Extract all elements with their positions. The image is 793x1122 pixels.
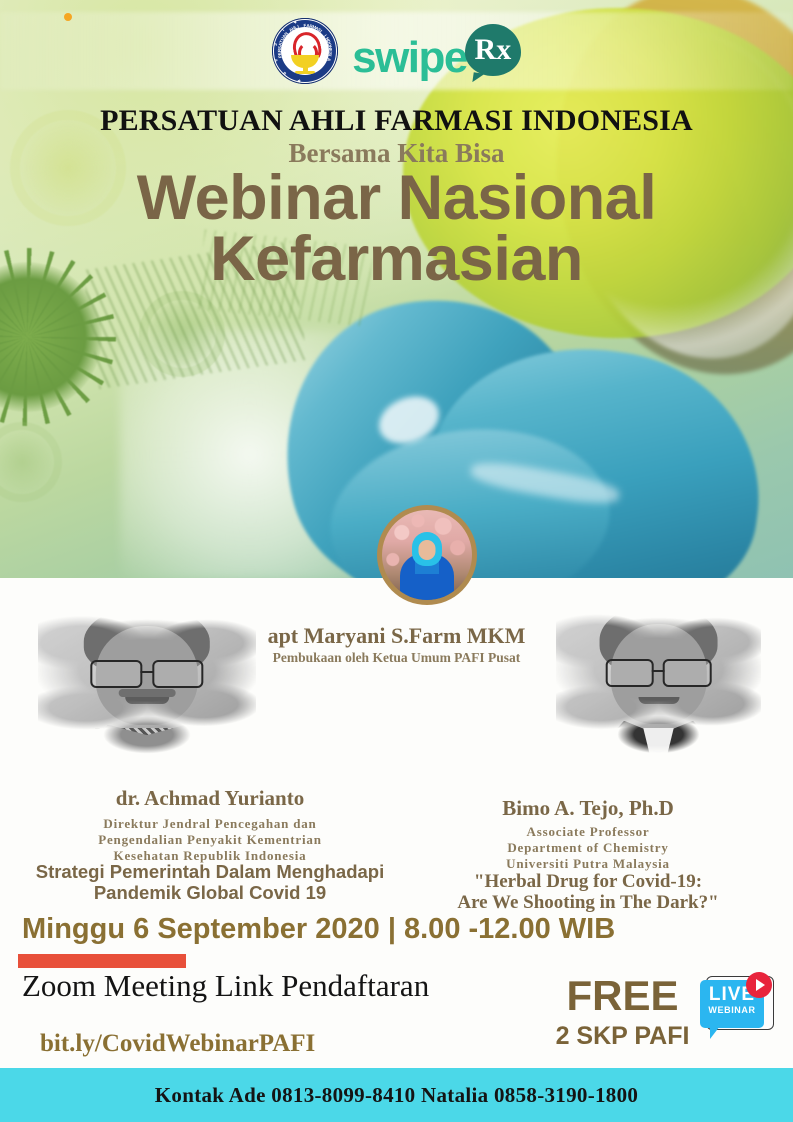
speaker-left-topic-1: Strategi Pemerintah Dalam Menghadapi bbox=[0, 862, 420, 882]
brush-mask bbox=[556, 590, 761, 762]
seal-lettering: PERSATUAN AHLI FARMASI INDONESIA★ P A F … bbox=[272, 18, 338, 84]
badge-webinar-label: WEBINAR bbox=[700, 1005, 764, 1015]
mouth bbox=[125, 697, 169, 704]
swipe-dot-icon bbox=[64, 13, 72, 21]
credits-skp: 2 SKP PAFI bbox=[540, 1022, 705, 1051]
event-datetime: Minggu 6 September 2020 | 8.00 -12.00 WI… bbox=[22, 913, 615, 946]
speaker-left-name: dr. Achmad Yurianto bbox=[0, 786, 420, 811]
contact-text: Kontak Ade 0813-8099-8410 Natalia 0858-3… bbox=[155, 1083, 638, 1108]
eyeglasses-icon bbox=[605, 659, 712, 683]
speaker-left-affiliation-2: Pengendalian Penyakit Kementrian bbox=[0, 832, 420, 848]
speaker-left-topic-2: Pandemik Global Covid 19 bbox=[0, 883, 420, 903]
brush-mask bbox=[38, 592, 256, 762]
speaker-left-affiliation-1: Direktur Jendral Pencegahan dan bbox=[0, 816, 420, 832]
portrait-achmad-yurianto bbox=[38, 592, 256, 762]
portrait-bimo-tejo bbox=[556, 590, 761, 762]
main-title-line2: Kefarmasian bbox=[0, 229, 793, 290]
registration-link[interactable]: bit.ly/CovidWebinarPAFI bbox=[40, 1030, 315, 1058]
main-title-line1: Webinar Nasional bbox=[137, 163, 656, 233]
mouth bbox=[638, 697, 679, 704]
avatar-maryani bbox=[377, 505, 477, 605]
main-title: Webinar Nasional Kefarmasian bbox=[0, 168, 793, 290]
contact-footer: Kontak Ade 0813-8099-8410 Natalia 0858-3… bbox=[0, 1068, 793, 1122]
eyeglasses-icon bbox=[90, 660, 203, 684]
mustache bbox=[119, 689, 176, 698]
speaker-right-affiliation-1: Associate Professor bbox=[383, 824, 793, 840]
virus-particle-icon bbox=[0, 430, 54, 494]
speaker-right-affiliation-2: Department of Chemistry bbox=[383, 840, 793, 856]
swiperx-logo: swipe Rx bbox=[352, 24, 521, 78]
speaker-face bbox=[419, 540, 436, 560]
play-button-icon bbox=[746, 972, 772, 998]
rx-speech-bubble-icon: Rx bbox=[465, 24, 521, 76]
price-free: FREE bbox=[540, 972, 705, 1020]
webinar-poster: PERSATUAN AHLI FARMASI INDONESIA★ P A F … bbox=[0, 0, 793, 1122]
live-webinar-badge: LIVE WEBINAR bbox=[700, 972, 776, 1038]
rx-label: Rx bbox=[475, 35, 512, 65]
portrait-image bbox=[556, 590, 761, 762]
portrait-image bbox=[38, 592, 256, 762]
badge-bubble-tail bbox=[710, 1026, 720, 1039]
speaker-right-name: Bimo A. Tejo, Ph.D bbox=[383, 796, 793, 821]
registration-label: Zoom Meeting Link Pendaftaran bbox=[22, 968, 429, 1004]
avatar-photo bbox=[382, 510, 472, 600]
header-logos: PERSATUAN AHLI FARMASI INDONESIA★ P A F … bbox=[0, 14, 793, 88]
accent-bar bbox=[18, 954, 186, 968]
speaker-right-topic-2: Are We Shooting in The Dark?" bbox=[383, 892, 793, 913]
swipe-wordmark: swipe bbox=[352, 38, 467, 78]
pafi-logo-icon: PERSATUAN AHLI FARMASI INDONESIA★ P A F … bbox=[272, 18, 338, 84]
organization-title: PERSATUAN AHLI FARMASI INDONESIA bbox=[0, 104, 793, 138]
speaker-right-topic-1: "Herbal Drug for Covid-19: bbox=[383, 871, 793, 892]
speaker-right-affiliation-3: Universiti Putra Malaysia bbox=[383, 856, 793, 872]
